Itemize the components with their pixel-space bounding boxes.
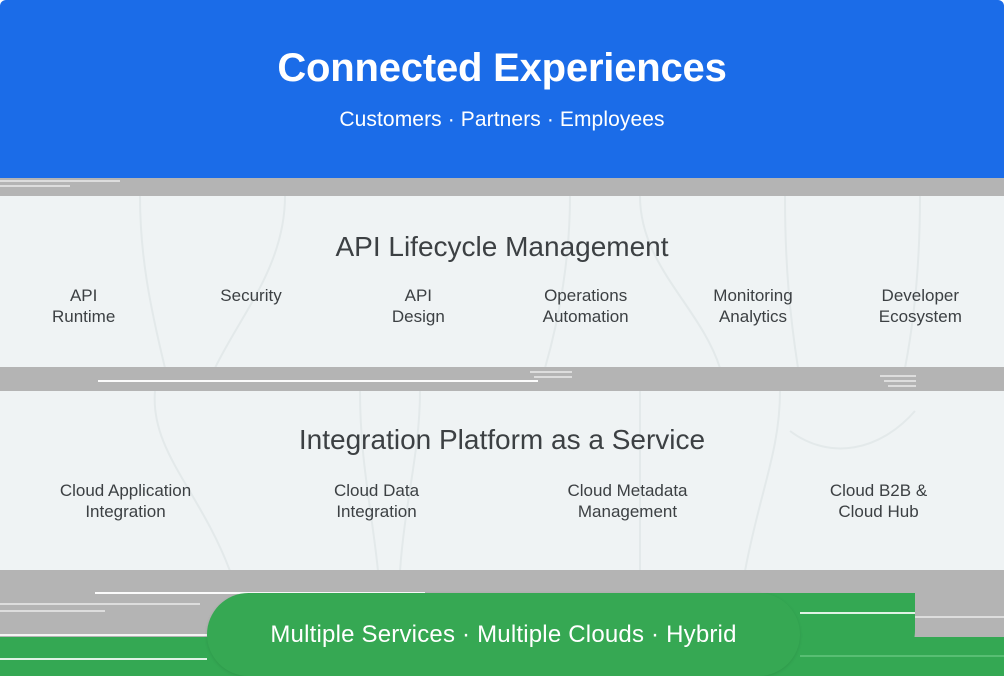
header-subtitle: Customers · Partners · Employees <box>339 108 664 131</box>
layer-item: Security <box>167 286 334 327</box>
layer-item: API Design <box>335 286 502 327</box>
layer-item: Cloud B2B & Cloud Hub <box>753 481 1004 522</box>
divider-band-top <box>0 178 1004 197</box>
layer-items-ipaas: Cloud Application Integration Cloud Data… <box>0 481 1004 522</box>
layer-item: Developer Ecosystem <box>837 286 1004 327</box>
page-title: Connected Experiences <box>277 46 726 90</box>
divider-band-middle <box>0 367 1004 392</box>
diagram-canvas: Connected Experiences Customers · Partne… <box>0 0 1004 676</box>
layer-item: Operations Automation <box>502 286 669 327</box>
layer-item: API Runtime <box>0 286 167 327</box>
layer-title-ipaas: Integration Platform as a Service <box>0 425 1004 456</box>
connected-experiences-header: Connected Experiences Customers · Partne… <box>0 0 1004 178</box>
layer-api-lifecycle: API Lifecycle Management API Runtime Sec… <box>0 196 1004 368</box>
layer-items-api-lifecycle: API Runtime Security API Design Operatio… <box>0 286 1004 327</box>
layer-title-api-lifecycle: API Lifecycle Management <box>0 232 1004 263</box>
layer-item: Cloud Application Integration <box>0 481 251 522</box>
layer-item: Monitoring Analytics <box>669 286 836 327</box>
footer-label: Multiple Services · Multiple Clouds · Hy… <box>270 623 736 647</box>
layer-item: Cloud Metadata Management <box>502 481 753 522</box>
layer-ipaas: Integration Platform as a Service Cloud … <box>0 391 1004 571</box>
layer-item: Cloud Data Integration <box>251 481 502 522</box>
footer-pill: Multiple Services · Multiple Clouds · Hy… <box>207 593 800 676</box>
background-swoosh-decoration <box>0 196 1004 368</box>
